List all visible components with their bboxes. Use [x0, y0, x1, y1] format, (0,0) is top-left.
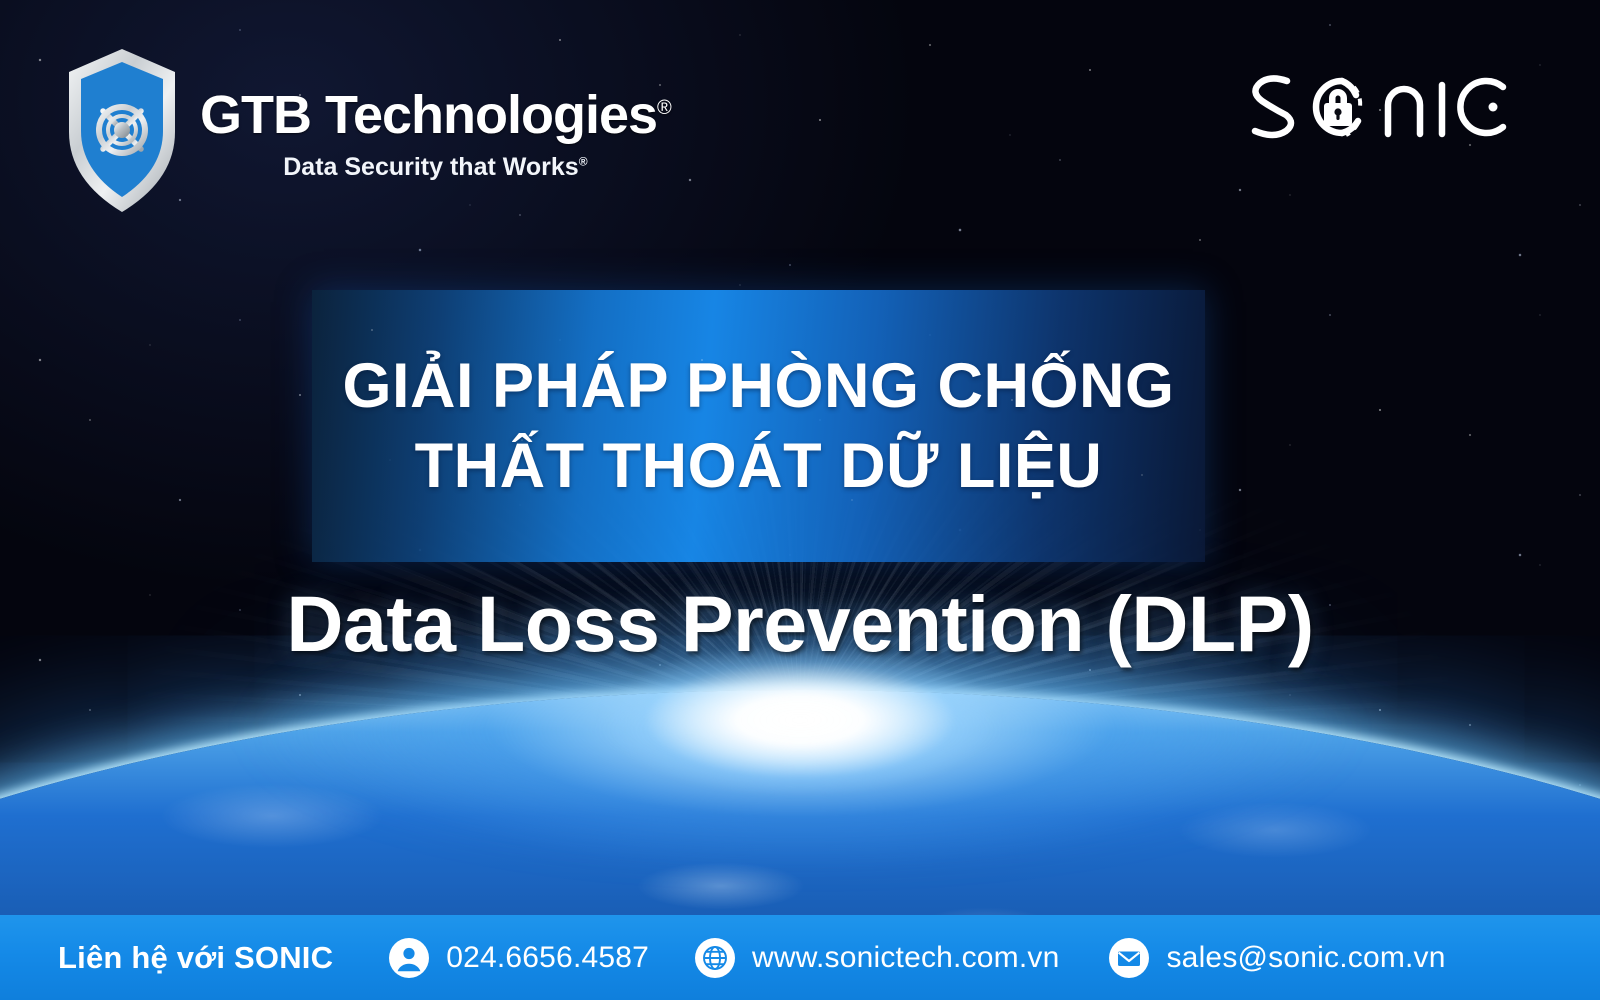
gtb-brand-name-text: GTB Technologies: [200, 85, 657, 145]
shield-vault-wheel-icon: [62, 46, 182, 216]
sonic-dot-icon: [1489, 103, 1498, 112]
slide-canvas: GTB Technologies® Data Security that Wor…: [0, 0, 1600, 1000]
footer-email-value: sales@sonic.com.vn: [1166, 941, 1445, 975]
person-icon: [389, 938, 429, 978]
gtb-logo: GTB Technologies® Data Security that Wor…: [62, 46, 671, 216]
footer-website-value: www.sonictech.com.vn: [752, 941, 1059, 975]
padlock-icon: [1324, 89, 1352, 126]
title-band-text: GIẢI PHÁP PHÒNG CHỐNG THẤT THOÁT DỮ LIỆU: [312, 290, 1205, 562]
gtb-brand-name: GTB Technologies®: [200, 88, 671, 142]
subtitle: Data Loss Prevention (DLP): [0, 578, 1600, 670]
title-line-2: THẤT THOÁT DỮ LIỆU: [415, 429, 1103, 503]
gtb-tagline: Data Security that Works®: [200, 155, 671, 180]
footer-inner: Liên hệ với SONIC 024.6656.4587: [0, 938, 1600, 978]
envelope-icon: [1109, 938, 1149, 978]
footer-contact-website[interactable]: www.sonictech.com.vn: [695, 938, 1059, 978]
footer-label: Liên hệ với SONIC: [58, 940, 333, 976]
gtb-logo-text: GTB Technologies® Data Security that Wor…: [200, 82, 671, 180]
title-band: GIẢI PHÁP PHÒNG CHỐNG THẤT THOÁT DỮ LIỆU: [312, 290, 1205, 562]
footer-contact-phone[interactable]: 024.6656.4587: [389, 938, 649, 978]
footer-contact-bar: Liên hệ với SONIC 024.6656.4587: [0, 915, 1600, 1000]
sonic-wordmark-icon: [1246, 65, 1514, 149]
gtb-tagline-text: Data Security that Works: [283, 153, 578, 181]
title-line-1: GIẢI PHÁP PHÒNG CHỐNG: [343, 349, 1175, 423]
sonic-logo: [1246, 62, 1514, 152]
globe-icon: [695, 938, 735, 978]
gtb-registered-mark: ®: [657, 97, 671, 119]
footer-phone-value: 024.6656.4587: [446, 941, 649, 975]
footer-contact-email[interactable]: sales@sonic.com.vn: [1109, 938, 1445, 978]
gtb-tagline-mark: ®: [579, 155, 588, 169]
